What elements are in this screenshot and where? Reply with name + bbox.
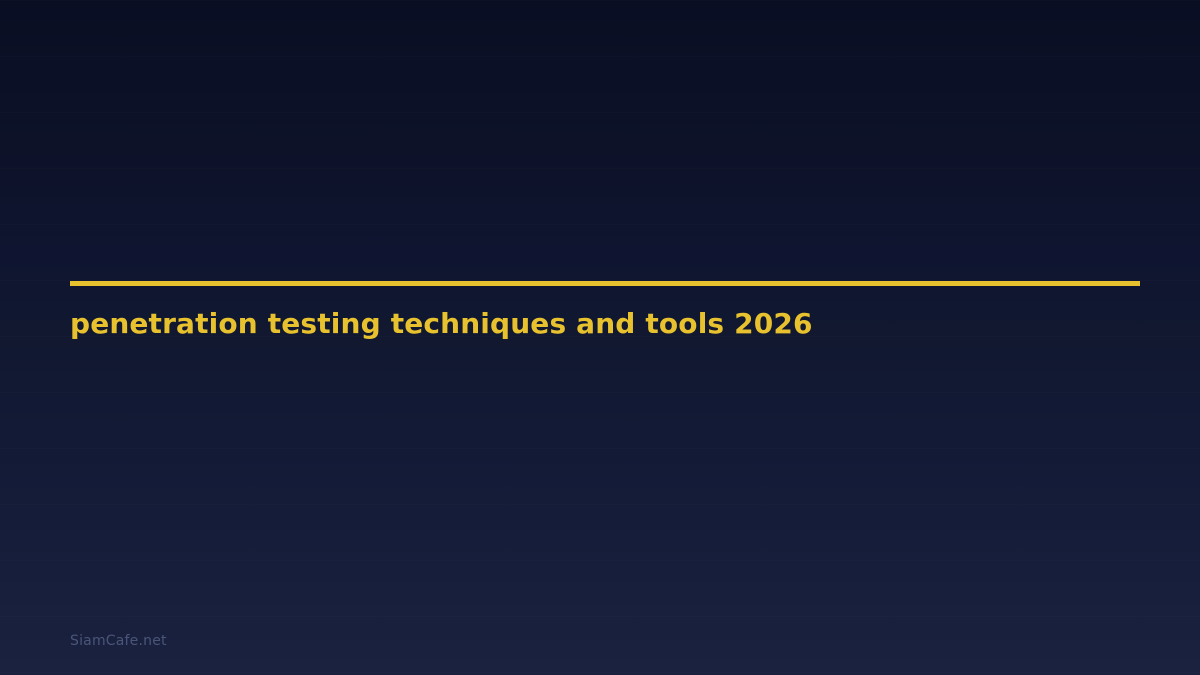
title-block: penetration testing techniques and tools…: [70, 281, 1140, 340]
footer: SiamCafe.net: [70, 630, 167, 649]
footer-brand-label: SiamCafe.net: [70, 633, 167, 649]
slide-canvas: penetration testing techniques and tools…: [0, 0, 1200, 675]
page-title: penetration testing techniques and tools…: [70, 286, 1140, 340]
